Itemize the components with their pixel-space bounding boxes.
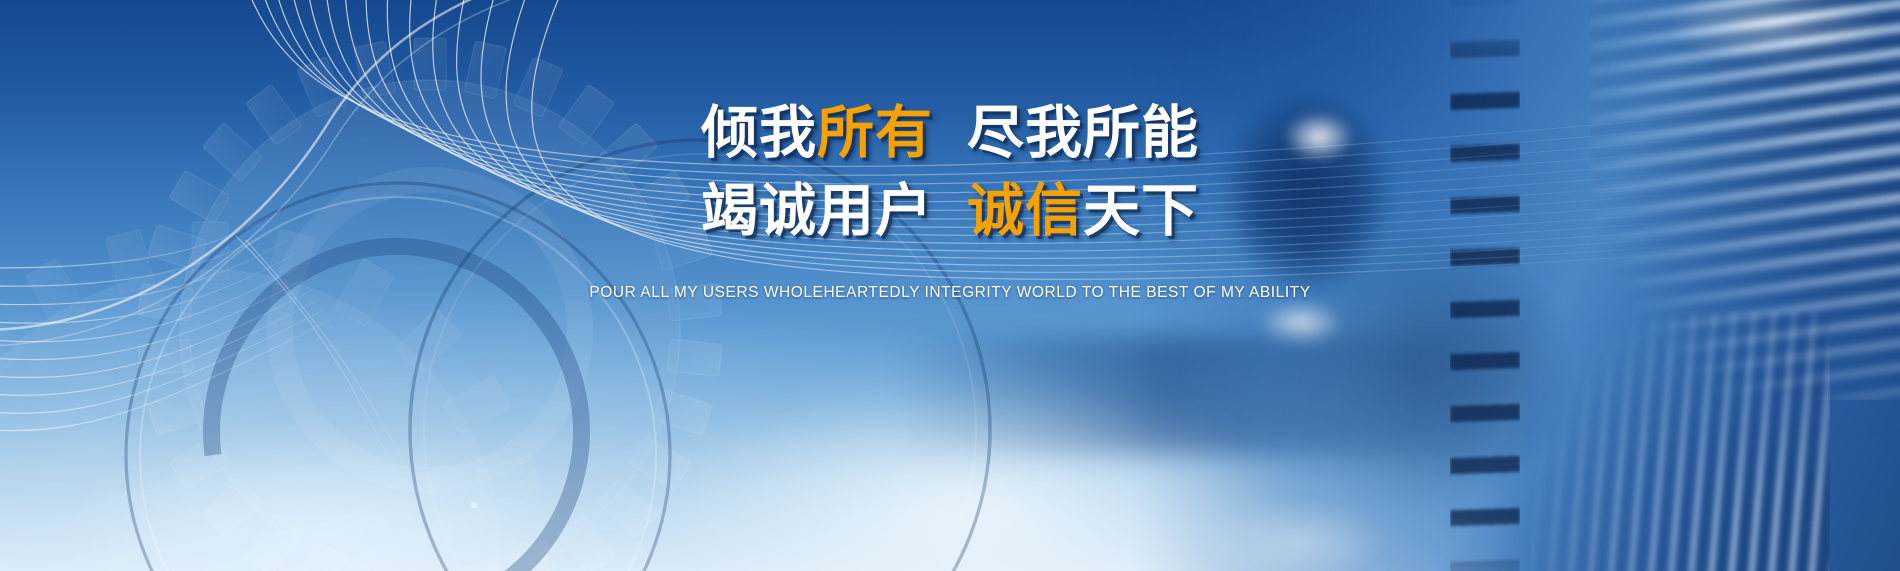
headline-l1-part1: 倾我 bbox=[701, 100, 817, 166]
subtitle-english: POUR ALL MY USERS WHOLEHEARTEDLY INTEGRI… bbox=[0, 284, 1900, 302]
headline-l1-part3: 尽我所能 bbox=[967, 100, 1199, 166]
headline: 倾我所有尽我所能 竭诚用户诚信天下 bbox=[0, 96, 1900, 248]
headline-l2-part2-accent: 诚信 bbox=[967, 178, 1083, 244]
headline-l1-part2-accent: 所有 bbox=[817, 100, 933, 166]
banner-copy: 倾我所有尽我所能 竭诚用户诚信天下 POUR ALL MY USERS WHOL… bbox=[0, 96, 1900, 302]
headline-line-1: 倾我所有尽我所能 bbox=[0, 96, 1900, 170]
headline-l2-part1: 竭诚用户 bbox=[701, 178, 933, 244]
hero-banner: 倾我所有尽我所能 竭诚用户诚信天下 POUR ALL MY USERS WHOL… bbox=[0, 0, 1900, 571]
headline-line-2: 竭诚用户诚信天下 bbox=[0, 174, 1900, 248]
headline-l2-part3: 天下 bbox=[1083, 178, 1199, 244]
